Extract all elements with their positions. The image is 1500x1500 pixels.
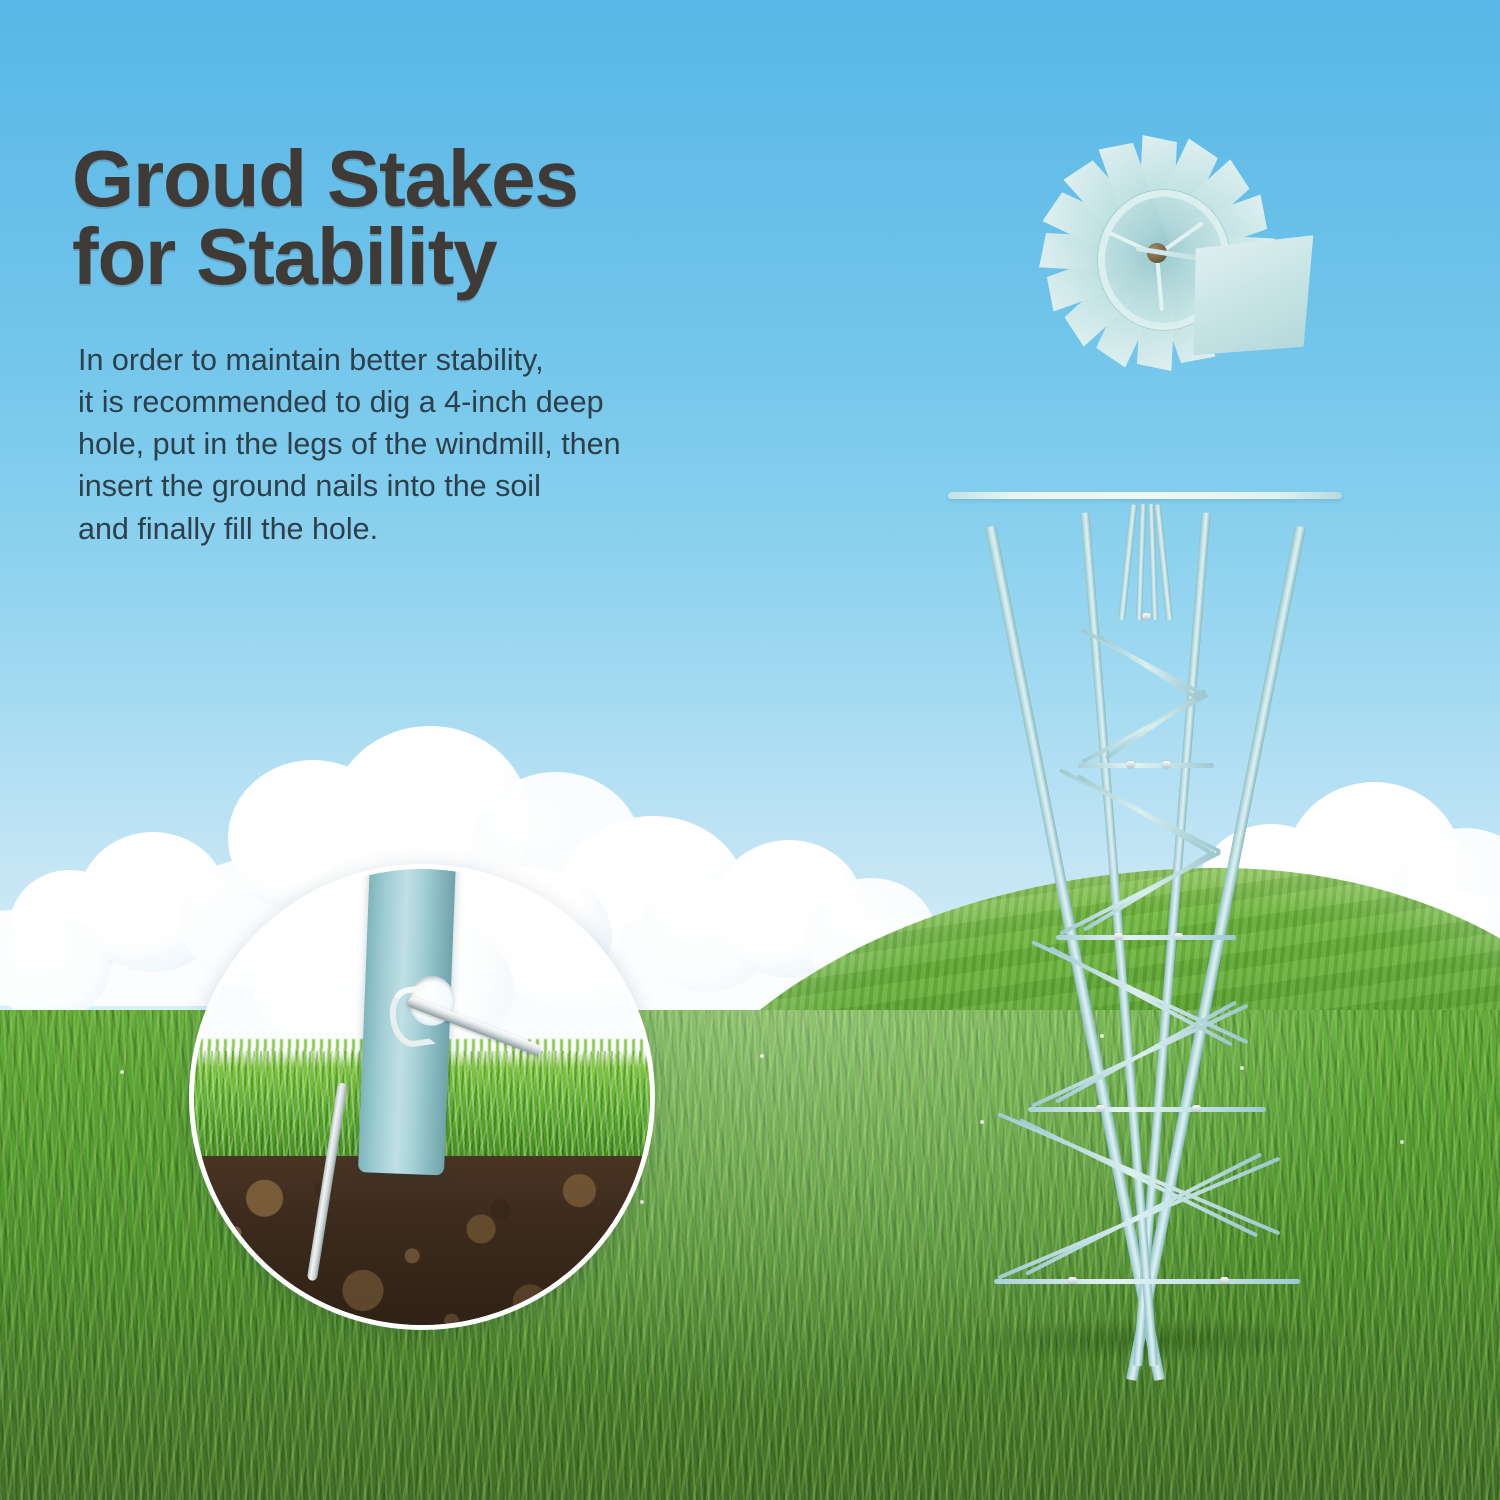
headline-line-1: Groud Stakes <box>72 134 578 223</box>
headline-line-2: for Stability <box>72 218 832 296</box>
garden-windmill <box>930 70 1360 1370</box>
tower-platform-rail <box>948 492 1342 499</box>
product-feature-image: Groud Stakes for Stability In order to m… <box>0 0 1500 1500</box>
detail-inset-circle <box>189 864 655 1330</box>
body-paragraph: In order to maintain better stability, i… <box>78 339 832 549</box>
page-title: Groud Stakes for Stability <box>72 140 832 295</box>
inset-soil-layer <box>189 1156 655 1330</box>
copy-block: Groud Stakes for Stability In order to m… <box>72 140 832 550</box>
windmill-tower <box>930 400 1360 1380</box>
